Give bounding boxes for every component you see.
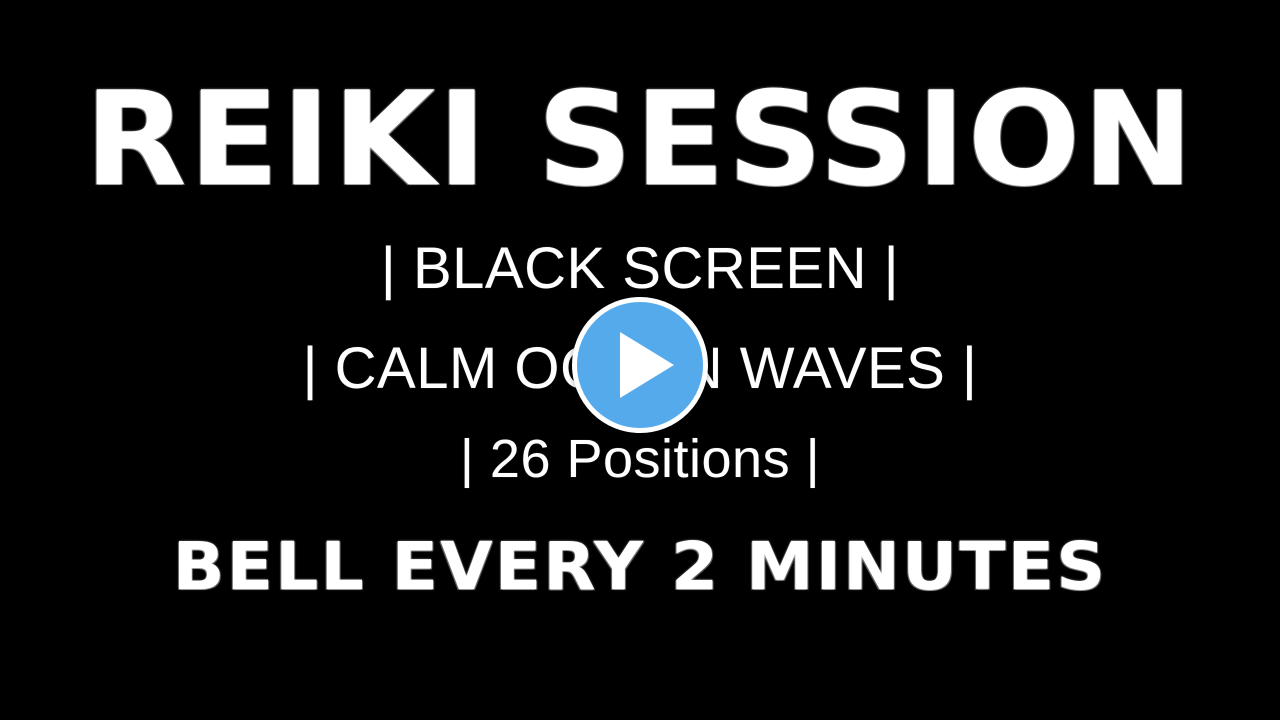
- play-icon: [620, 332, 674, 398]
- subtitle-black-screen: | BLACK SCREEN |: [0, 240, 1280, 298]
- page-title: REIKI SESSION: [0, 74, 1280, 204]
- play-button[interactable]: [572, 297, 708, 433]
- video-thumbnail: REIKI SESSION | BLACK SCREEN | | CALM OC…: [0, 0, 1280, 720]
- footer-bell-interval: BELL EVERY 2 MINUTES: [0, 534, 1280, 600]
- subtitle-positions-count: | 26 Positions |: [0, 432, 1280, 486]
